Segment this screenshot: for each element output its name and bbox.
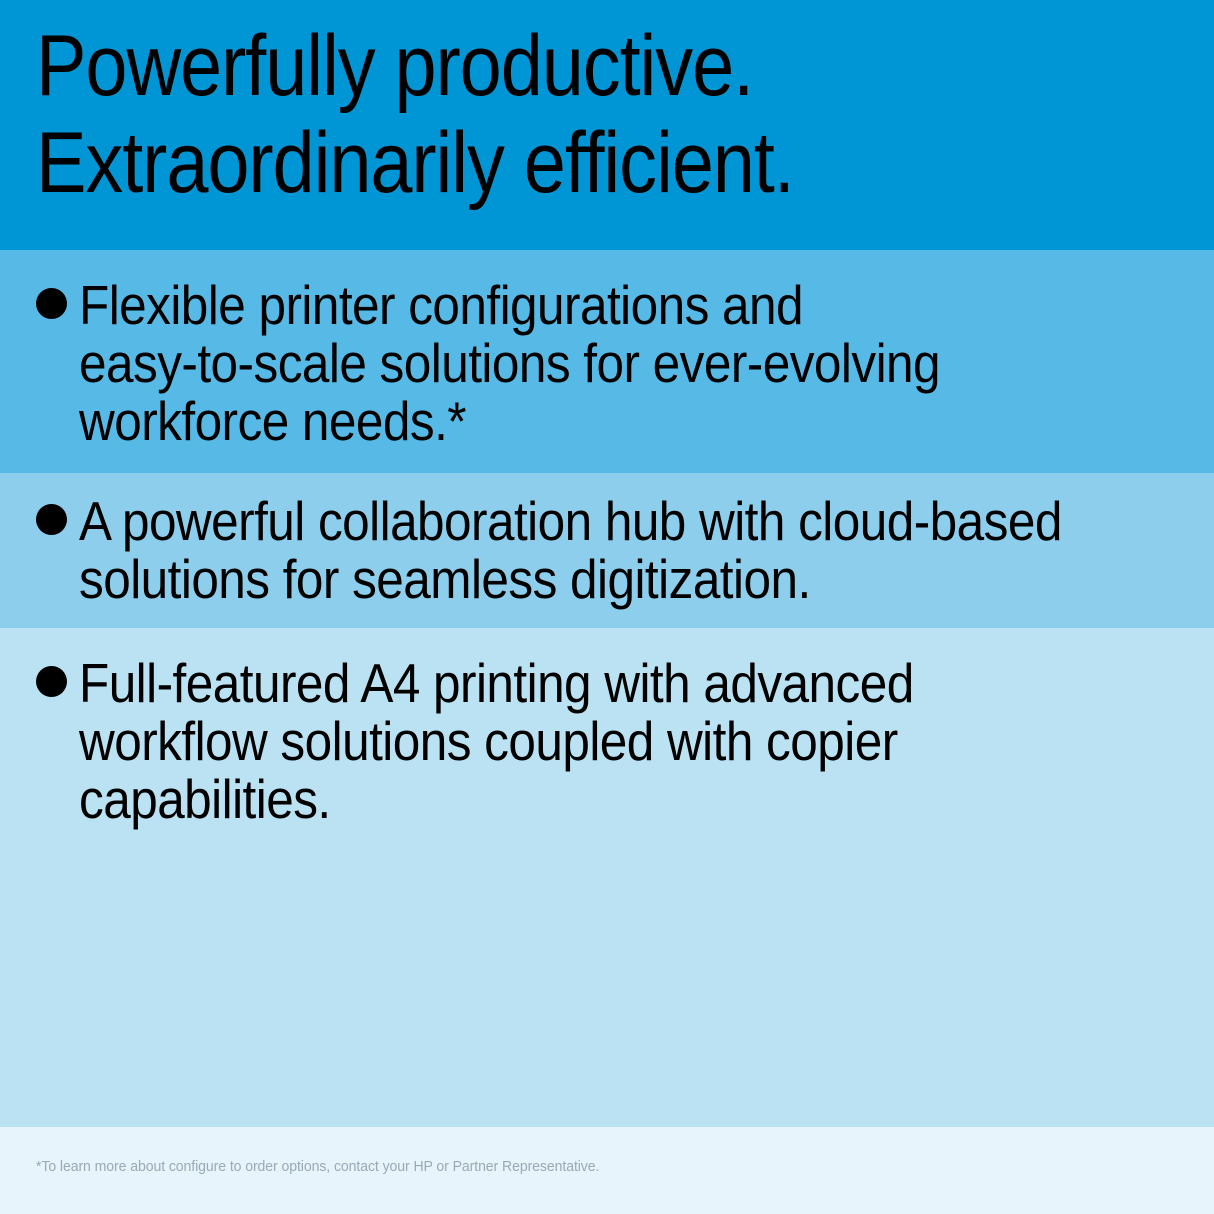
list-item-label: Flexible printer configurations and easy… (79, 276, 940, 450)
bullet-dot-icon (36, 504, 67, 535)
headline-line-1: Powerfully productive. (36, 18, 1048, 115)
headline-line-2: Extraordinarily efficient. (36, 115, 1048, 212)
list-item-collaboration-hub: A powerful collaboration hub with cloud-… (36, 492, 1171, 608)
list-item-a4-printing: Full-featured A4 printing with advanced … (36, 654, 1006, 828)
list-item-flexible-configurations: Flexible printer configurations and easy… (36, 276, 1036, 450)
bullet-dot-icon (36, 666, 67, 697)
footnote-text: *To learn more about configure to order … (36, 1157, 599, 1177)
list-item-label: A powerful collaboration hub with cloud-… (79, 492, 1062, 608)
marketing-poster: Powerfully productive. Extraordinarily e… (0, 0, 1214, 1214)
headline-band: Powerfully productive. Extraordinarily e… (0, 0, 1214, 250)
page-title: Powerfully productive. Extraordinarily e… (36, 18, 1048, 212)
bullet-dot-icon (36, 288, 67, 319)
list-item-label: Full-featured A4 printing with advanced … (79, 654, 914, 828)
